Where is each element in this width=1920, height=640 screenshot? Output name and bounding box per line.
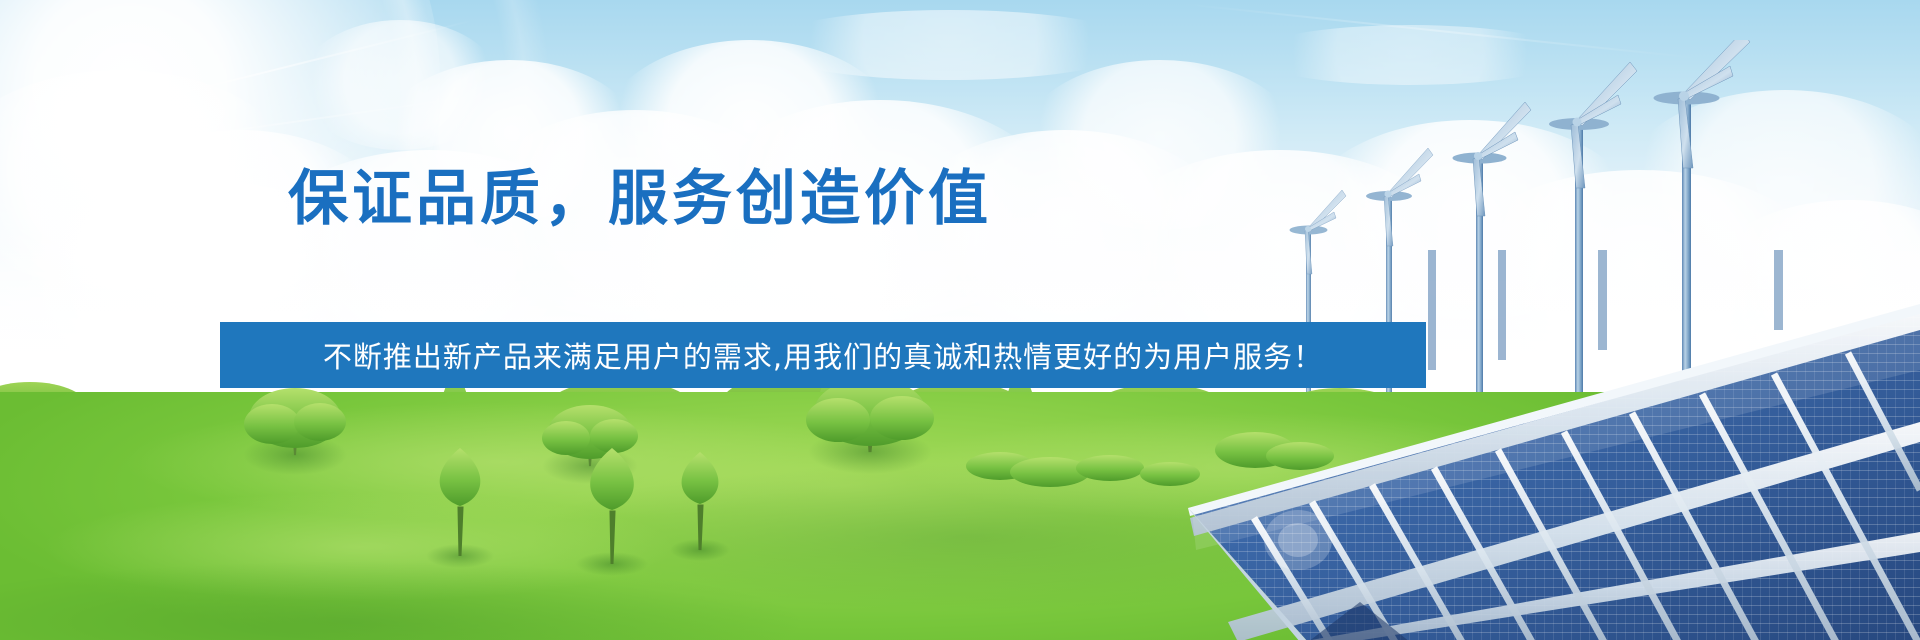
bush: [243, 388, 347, 475]
solar-support-legs: [1428, 250, 1783, 370]
cloud-puff: [300, 20, 500, 150]
subtitle-banner: 不断推出新产品来满足用户的需求,用我们的真诚和热情更好的为用户服务！: [220, 322, 1426, 388]
shrub-cluster: [966, 452, 1200, 487]
hero-banner: 保证品质，服务创造价值 不断推出新产品来满足用户的需求,用我们的真诚和热情更好的…: [0, 0, 1920, 640]
sapling: [670, 452, 730, 561]
bush: [806, 380, 934, 474]
solar-panel-array: [1180, 250, 1920, 640]
sapling: [426, 448, 494, 568]
page-title: 保证品质，服务创造价值: [0, 168, 1280, 231]
subtitle-text: 不断推出新产品来满足用户的需求,用我们的真诚和热情更好的为用户服务！: [323, 334, 1323, 376]
cloud-wisp: [760, 10, 1140, 80]
